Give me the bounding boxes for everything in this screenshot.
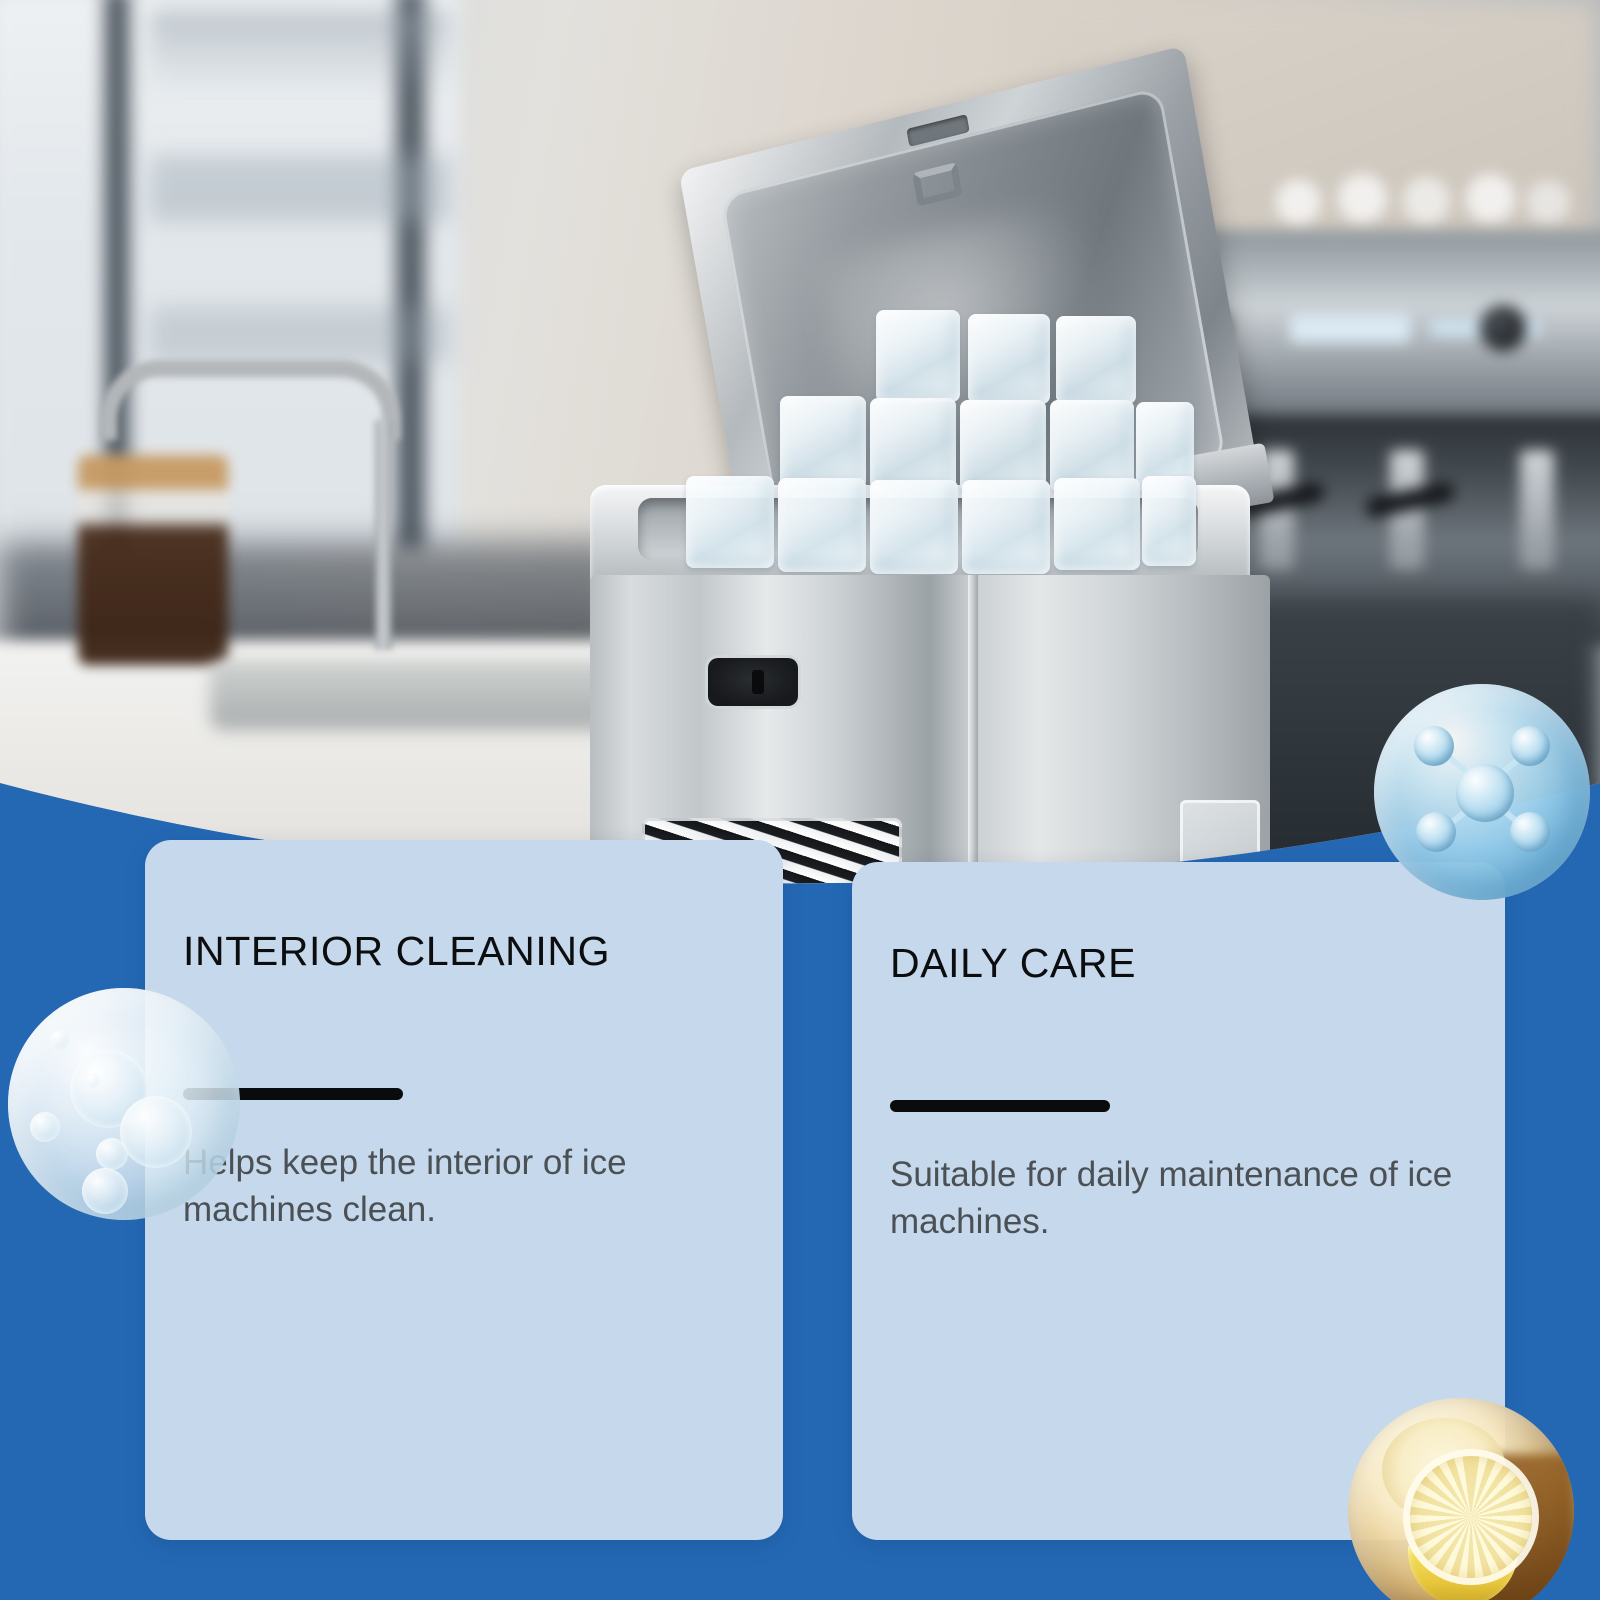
water-bubble-sphere-icon	[8, 988, 240, 1220]
ice-cube	[870, 398, 956, 490]
lemon-slice-front	[1410, 1456, 1532, 1578]
bubble-droplet	[86, 1074, 100, 1088]
faucet-arm	[100, 360, 400, 440]
faucet-stem	[375, 420, 392, 650]
steam-knob-right	[1480, 305, 1526, 351]
ice-cube	[968, 314, 1050, 404]
ice-cube	[962, 480, 1050, 574]
card-title-daily-care: DAILY CARE	[890, 940, 1471, 987]
feature-card-interior-cleaning: INTERIOR CLEANING Helps keep the interio…	[145, 840, 783, 1540]
espresso-display-panel	[1290, 315, 1410, 343]
card-title-interior-cleaning: INTERIOR CLEANING	[183, 928, 749, 975]
group-head-3	[1520, 450, 1554, 570]
ice-maker-machine	[580, 30, 1300, 920]
card-body-daily-care: Suitable for daily maintenance of ice ma…	[890, 1152, 1465, 1245]
bubble-droplet	[120, 1096, 192, 1168]
molecule-sphere-icon	[1374, 684, 1590, 900]
ice-cube-pile	[672, 310, 1192, 560]
ice-level-sensor-window	[708, 658, 798, 706]
sink-basin	[210, 660, 640, 730]
bubble-droplet	[82, 1168, 128, 1214]
ice-cube	[778, 478, 866, 572]
ice-cube	[686, 476, 774, 568]
molecule-atom	[1414, 726, 1454, 766]
card-body-interior-cleaning: Helps keep the interior of ice machines …	[183, 1140, 769, 1233]
coffee-bean-jar	[78, 455, 228, 665]
card-divider	[890, 1100, 1110, 1112]
stacked-cups	[1260, 160, 1580, 230]
ice-cube	[876, 310, 960, 402]
molecule-core-atom	[1456, 764, 1514, 822]
ice-cube	[780, 396, 866, 488]
molecule-atom	[1416, 812, 1456, 852]
ice-cube	[960, 400, 1046, 492]
bubble-droplet	[30, 1112, 60, 1142]
bubble-droplet	[50, 1030, 70, 1050]
product-feature-banner: INTERIOR CLEANING Helps keep the interio…	[0, 0, 1600, 1600]
hero-photo	[0, 0, 1600, 920]
ice-cube	[870, 480, 958, 574]
molecule-atom	[1510, 726, 1550, 766]
molecule-atom	[1510, 812, 1550, 852]
ice-cube	[1142, 476, 1196, 566]
ice-cube	[1054, 478, 1140, 570]
ice-cube	[1056, 316, 1136, 404]
bubble-droplet	[96, 1138, 128, 1170]
